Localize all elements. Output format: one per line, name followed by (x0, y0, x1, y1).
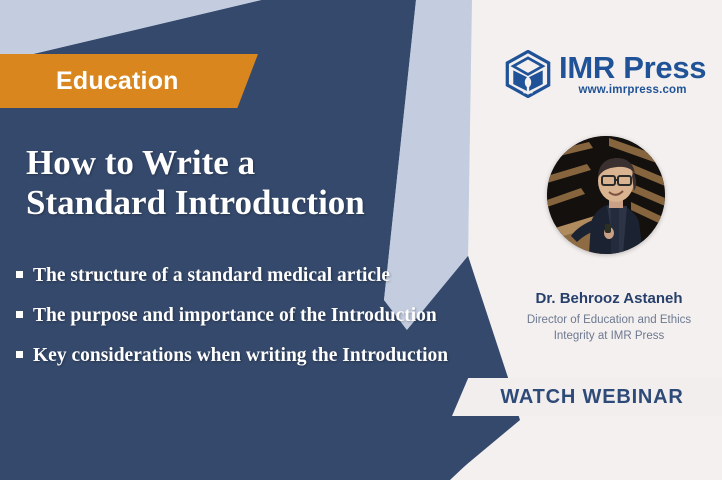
speaker-info: Dr. Behrooz Astaneh Director of Educatio… (500, 290, 718, 344)
list-item: The purpose and importance of the Introd… (16, 298, 486, 334)
list-item: The structure of a standard medical arti… (16, 258, 486, 294)
category-tag-label: Education (56, 67, 179, 96)
title-line-1: How to Write a (26, 143, 446, 183)
speaker-role-line-2: Integrity at IMR Press (500, 328, 718, 344)
topic-list: The structure of a standard medical arti… (16, 258, 486, 378)
page-title: How to Write a Standard Introduction (26, 143, 446, 223)
brand-logo-text: IMR Press www.imrpress.com (559, 52, 706, 97)
list-item-label: Key considerations when writing the Intr… (33, 338, 486, 374)
brand-name: IMR Press (559, 52, 706, 83)
list-item-label: The structure of a standard medical arti… (33, 258, 486, 294)
webinar-promo-poster: Education How to Write a Standard Introd… (0, 0, 722, 480)
brand-website: www.imrpress.com (559, 85, 706, 97)
square-bullet-icon (16, 271, 23, 278)
square-bullet-icon (16, 311, 23, 318)
category-tag: Education (0, 54, 258, 108)
watch-webinar-button[interactable]: WATCH WEBINAR (452, 378, 722, 416)
square-bullet-icon (16, 351, 23, 358)
avatar (547, 136, 665, 254)
brand-logo[interactable]: IMR Press www.imrpress.com (505, 50, 706, 98)
speaker-name: Dr. Behrooz Astaneh (500, 290, 718, 307)
imr-press-hexagon-book-logo-icon (505, 50, 551, 98)
watch-webinar-label: WATCH WEBINAR (500, 386, 683, 409)
speaker-photo (547, 136, 665, 254)
title-line-2: Standard Introduction (26, 183, 446, 223)
speaker-role-line-1: Director of Education and Ethics (500, 312, 718, 328)
list-item: Key considerations when writing the Intr… (16, 338, 486, 374)
list-item-label: The purpose and importance of the Introd… (33, 298, 486, 334)
